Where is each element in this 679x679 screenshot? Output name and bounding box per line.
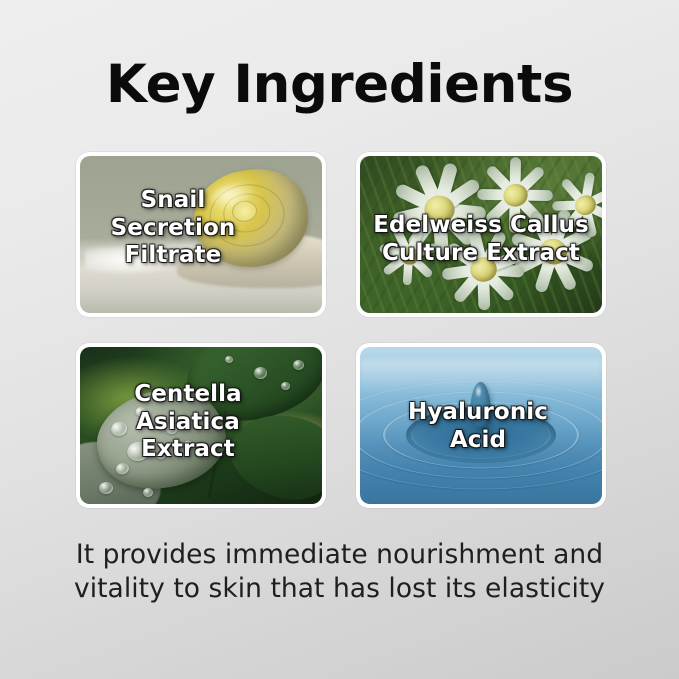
edelweiss-image: Edelweiss Callus Culture Extract <box>360 156 602 313</box>
ingredient-card-snail-secretion-filtrate[interactable]: Snail Secretion Filtrate <box>76 152 326 317</box>
label-line: Asiatica <box>136 409 240 435</box>
centella-image: Centella Asiatica Extract <box>80 347 322 504</box>
hyaluronic-water-image: Hyaluronic Acid <box>360 347 602 504</box>
snail-image: Snail Secretion Filtrate <box>80 156 322 313</box>
label-line: Extract <box>141 436 235 462</box>
ingredient-label-snail: Snail Secretion Filtrate <box>80 187 322 270</box>
ingredient-label-hyaluronic: Hyaluronic Acid <box>360 399 602 454</box>
ingredient-card-edelweiss-callus-culture-extract[interactable]: Edelweiss Callus Culture Extract <box>356 152 606 317</box>
water-droplet <box>293 360 304 370</box>
label-line: Centella <box>134 381 242 407</box>
ingredient-label-edelweiss: Edelweiss Callus Culture Extract <box>360 212 602 267</box>
caption-text: It provides immediate nourishment and vi… <box>0 538 679 606</box>
droplet-highlight <box>475 385 482 398</box>
ingredient-card-centella-asiatica-extract[interactable]: Centella Asiatica Extract <box>76 343 326 508</box>
ingredient-card-hyaluronic-acid[interactable]: Hyaluronic Acid <box>356 343 606 508</box>
label-line: Hyaluronic <box>408 399 548 425</box>
water-droplet <box>115 462 130 476</box>
label-line: Acid <box>450 427 506 453</box>
ingredient-card-grid: Snail Secretion Filtrate <box>76 152 606 508</box>
caption-line: vitality to skin that has lost its elast… <box>0 572 679 606</box>
label-line: Secretion <box>111 215 236 241</box>
key-ingredients-infographic: Key Ingredients Snail Secretion Filtra <box>0 0 679 679</box>
label-line: Edelweiss Callus <box>373 212 589 238</box>
label-line: Filtrate <box>125 242 222 268</box>
ingredient-label-centella: Centella Asiatica Extract <box>80 381 322 464</box>
label-line: Snail <box>141 187 206 213</box>
label-line: Culture Extract <box>382 240 580 266</box>
caption-line: It provides immediate nourishment and <box>0 538 679 572</box>
page-title: Key Ingredients <box>0 55 679 115</box>
